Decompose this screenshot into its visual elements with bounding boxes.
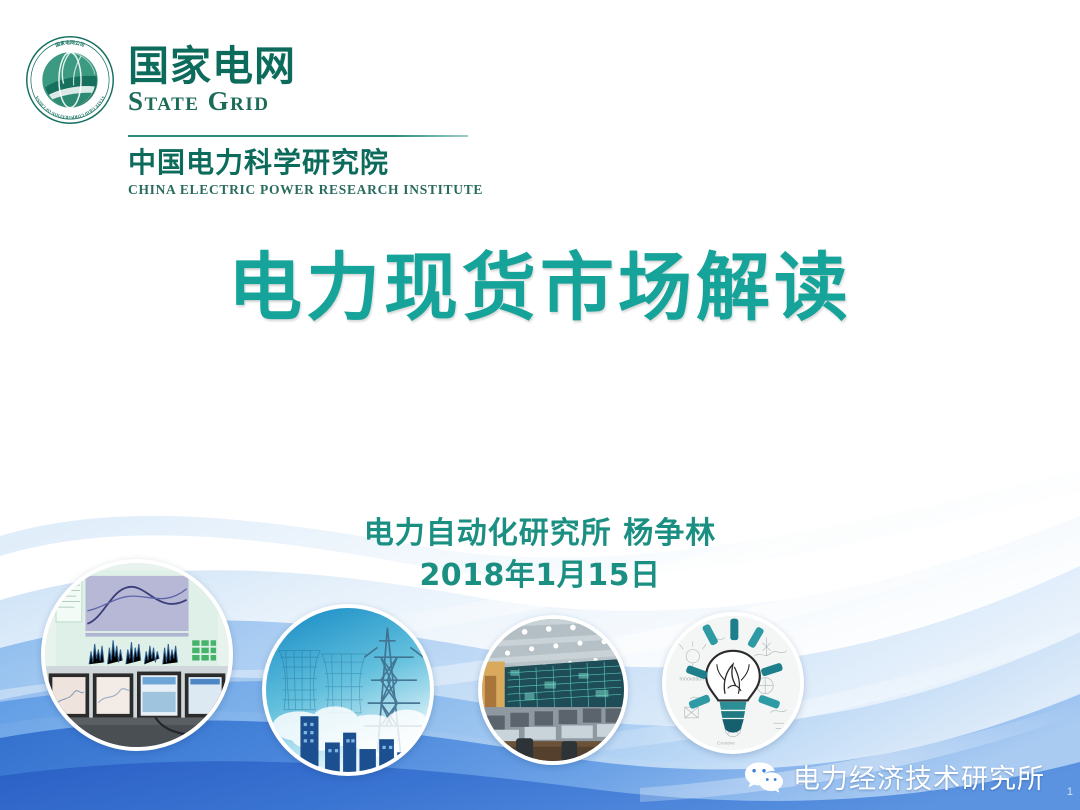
photo-lightbulb-idea-sketch: Innovation Creative [662,612,804,754]
institute-name-en: CHINA ELECTRIC POWER RESEARCH INSTITUTE [128,182,494,198]
presentation-slide: 国家电网公司 STATE GRID CORPORATION OF CHINA 国… [0,0,1080,810]
wechat-icon [744,760,784,793]
brand-company-en: State Grid [128,87,296,117]
svg-text:Creative: Creative [717,741,735,747]
wechat-watermark: 电力经济技术研究所 [744,757,1045,796]
svg-text:国家电网公司: 国家电网公司 [54,39,85,49]
photo-power-plant-and-transmission-tower [262,604,434,776]
presenter-line: 电力自动化研究所 杨争林 [0,514,1080,554]
photo-dispatch-center-video-wall [478,615,628,765]
brand-company-cn: 国家电网 [128,45,296,88]
photo-control-room-monitors [41,559,233,751]
page-number: 1 [1067,786,1073,798]
state-grid-globe-emblem: 国家电网公司 STATE GRID CORPORATION OF CHINA [24,34,116,126]
slide-title: 电力现货市场解读 [0,228,1080,335]
institute-name-cn: 中国电力科学研究院 [128,148,494,179]
wechat-account-label: 电力经济技术研究所 [793,757,1045,796]
logo-divider-rule [128,135,468,137]
brand-logo-block: 国家电网公司 STATE GRID CORPORATION OF CHINA 国… [24,34,494,198]
